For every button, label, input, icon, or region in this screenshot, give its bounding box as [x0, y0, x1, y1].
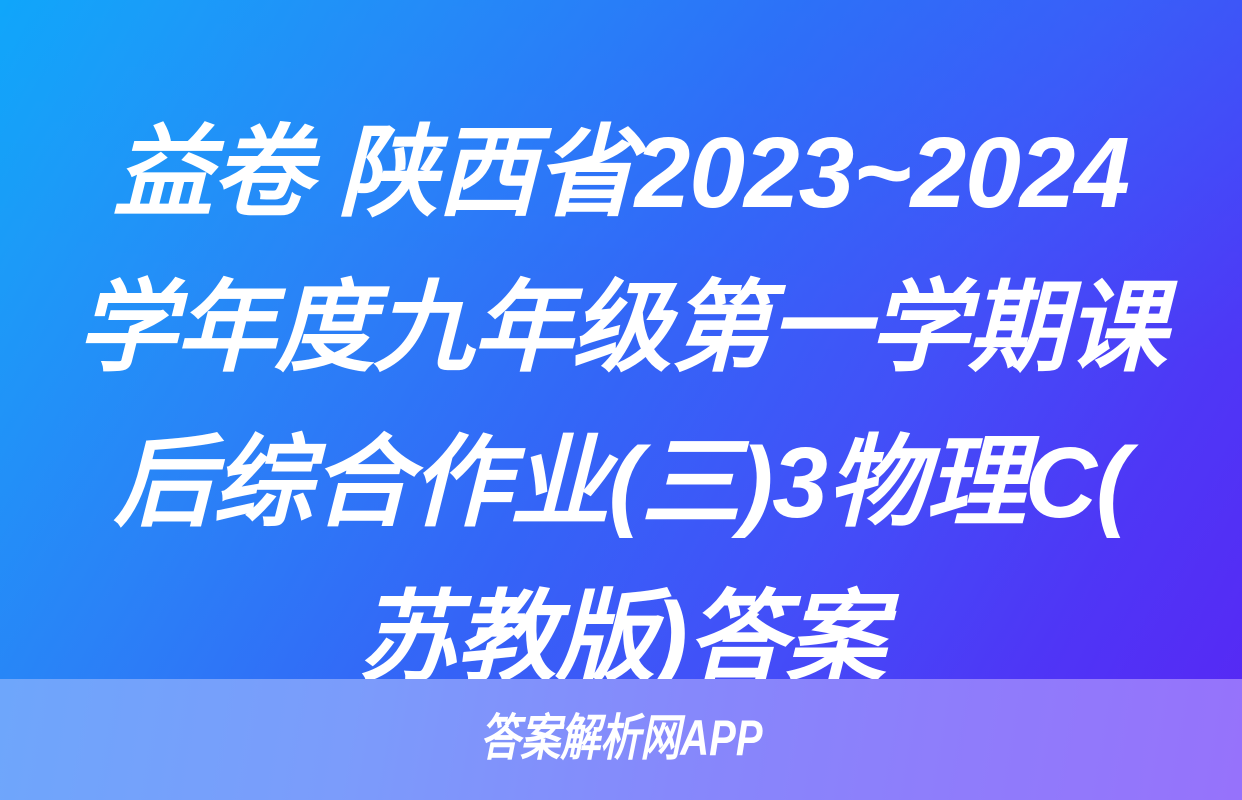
poster-canvas: 益卷 陕西省2023~2024 学年度九年级第一学期课 后综合作业(三)3物理C…: [0, 0, 1242, 800]
title-line-3: 后综合作业(三)3物理C(: [0, 406, 1242, 561]
title-line-2: 学年度九年级第一学期课: [0, 251, 1242, 406]
poster-title: 益卷 陕西省2023~2024 学年度九年级第一学期课 后综合作业(三)3物理C…: [0, 96, 1242, 716]
footer-app-label: 答案解析网APP: [480, 713, 762, 767]
title-line-1: 益卷 陕西省2023~2024: [0, 96, 1242, 251]
footer-banner: 答案解析网APP: [0, 679, 1242, 800]
